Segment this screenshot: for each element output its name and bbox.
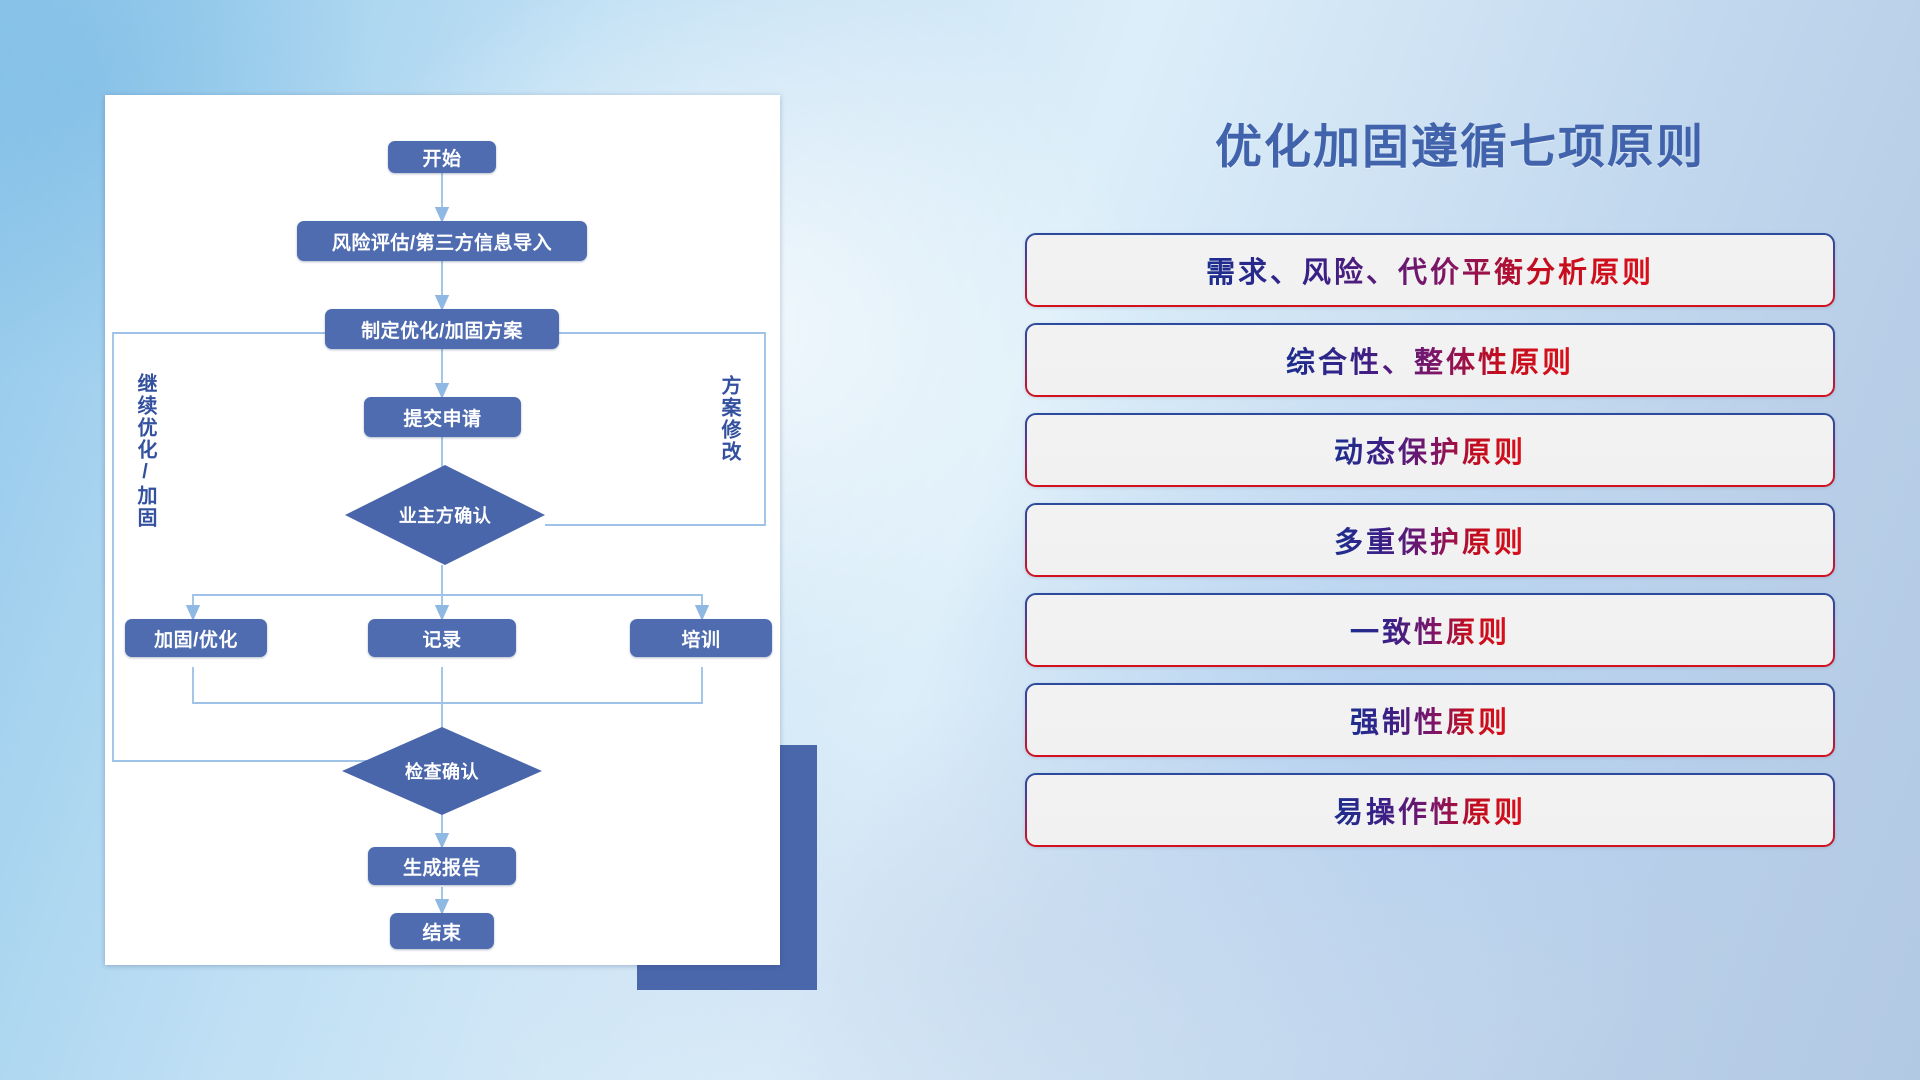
flow-node-record-label: 记录 bbox=[422, 625, 461, 652]
flow-node-record[interactable]: 记录 bbox=[368, 619, 516, 657]
flow-node-risk-assessment-label: 风险评估/第三方信息导入 bbox=[332, 228, 552, 255]
flow-node-owner-confirm-label: 业主方确认 bbox=[399, 502, 492, 528]
flow-node-reinforce-label: 加固/优化 bbox=[154, 625, 238, 652]
flowchart-card: 开始 风险评估/第三方信息导入 制定优化/加固方案 提交申请 业主方确认 加固/… bbox=[105, 95, 780, 965]
principle-item-7[interactable]: 易操作性原则 bbox=[1025, 773, 1835, 847]
flow-edge-label-plan-revision: 方案修改 bbox=[719, 375, 739, 463]
flow-node-start-label: 开始 bbox=[422, 144, 461, 171]
principles-panel: 优化加固遵循七项原则 需求、风险、代价平衡分析原则 综合性、整体性原则 动态保护… bbox=[1000, 0, 1920, 1080]
principle-item-5[interactable]: 一致性原则 bbox=[1025, 593, 1835, 667]
principle-item-3[interactable]: 动态保护原则 bbox=[1025, 413, 1835, 487]
principle-item-6[interactable]: 强制性原则 bbox=[1025, 683, 1835, 757]
principle-label: 动态保护原则 bbox=[1334, 429, 1526, 471]
flow-node-submit-application-label: 提交申请 bbox=[403, 404, 481, 431]
flow-node-generate-report-label: 生成报告 bbox=[403, 853, 481, 880]
flow-node-owner-confirm[interactable]: 业主方确认 bbox=[345, 465, 545, 565]
flow-node-end[interactable]: 结束 bbox=[390, 913, 494, 949]
flow-node-risk-assessment[interactable]: 风险评估/第三方信息导入 bbox=[297, 221, 587, 261]
principle-item-2[interactable]: 综合性、整体性原则 bbox=[1025, 323, 1835, 397]
flow-edge-label-continue-optimize: 继续优化/加固 bbox=[135, 373, 155, 529]
flow-node-check-confirm[interactable]: 检查确认 bbox=[342, 727, 542, 815]
principle-item-1[interactable]: 需求、风险、代价平衡分析原则 bbox=[1025, 233, 1835, 307]
principle-label: 综合性、整体性原则 bbox=[1286, 339, 1574, 381]
flow-node-generate-report[interactable]: 生成报告 bbox=[368, 847, 516, 885]
flow-node-training[interactable]: 培训 bbox=[630, 619, 772, 657]
flowchart-panel: 开始 风险评估/第三方信息导入 制定优化/加固方案 提交申请 业主方确认 加固/… bbox=[0, 0, 1000, 1080]
principle-item-4[interactable]: 多重保护原则 bbox=[1025, 503, 1835, 577]
flow-node-training-label: 培训 bbox=[681, 625, 720, 652]
flow-node-reinforce[interactable]: 加固/优化 bbox=[125, 619, 267, 657]
flow-node-end-label: 结束 bbox=[422, 918, 461, 945]
flow-node-start[interactable]: 开始 bbox=[388, 141, 496, 173]
flow-node-make-plan-label: 制定优化/加固方案 bbox=[361, 316, 523, 343]
principle-label: 一致性原则 bbox=[1350, 609, 1510, 651]
flow-node-make-plan[interactable]: 制定优化/加固方案 bbox=[325, 309, 559, 349]
principle-label: 易操作性原则 bbox=[1334, 789, 1526, 831]
page-title: 优化加固遵循七项原则 bbox=[1000, 108, 1920, 177]
principle-label: 强制性原则 bbox=[1350, 699, 1510, 741]
flow-node-check-confirm-label: 检查确认 bbox=[405, 758, 479, 784]
principle-label: 需求、风险、代价平衡分析原则 bbox=[1206, 249, 1654, 291]
principles-list: 需求、风险、代价平衡分析原则 综合性、整体性原则 动态保护原则 多重保护原则 一… bbox=[1025, 233, 1835, 863]
flow-node-submit-application[interactable]: 提交申请 bbox=[364, 397, 521, 437]
principle-label: 多重保护原则 bbox=[1334, 519, 1526, 561]
